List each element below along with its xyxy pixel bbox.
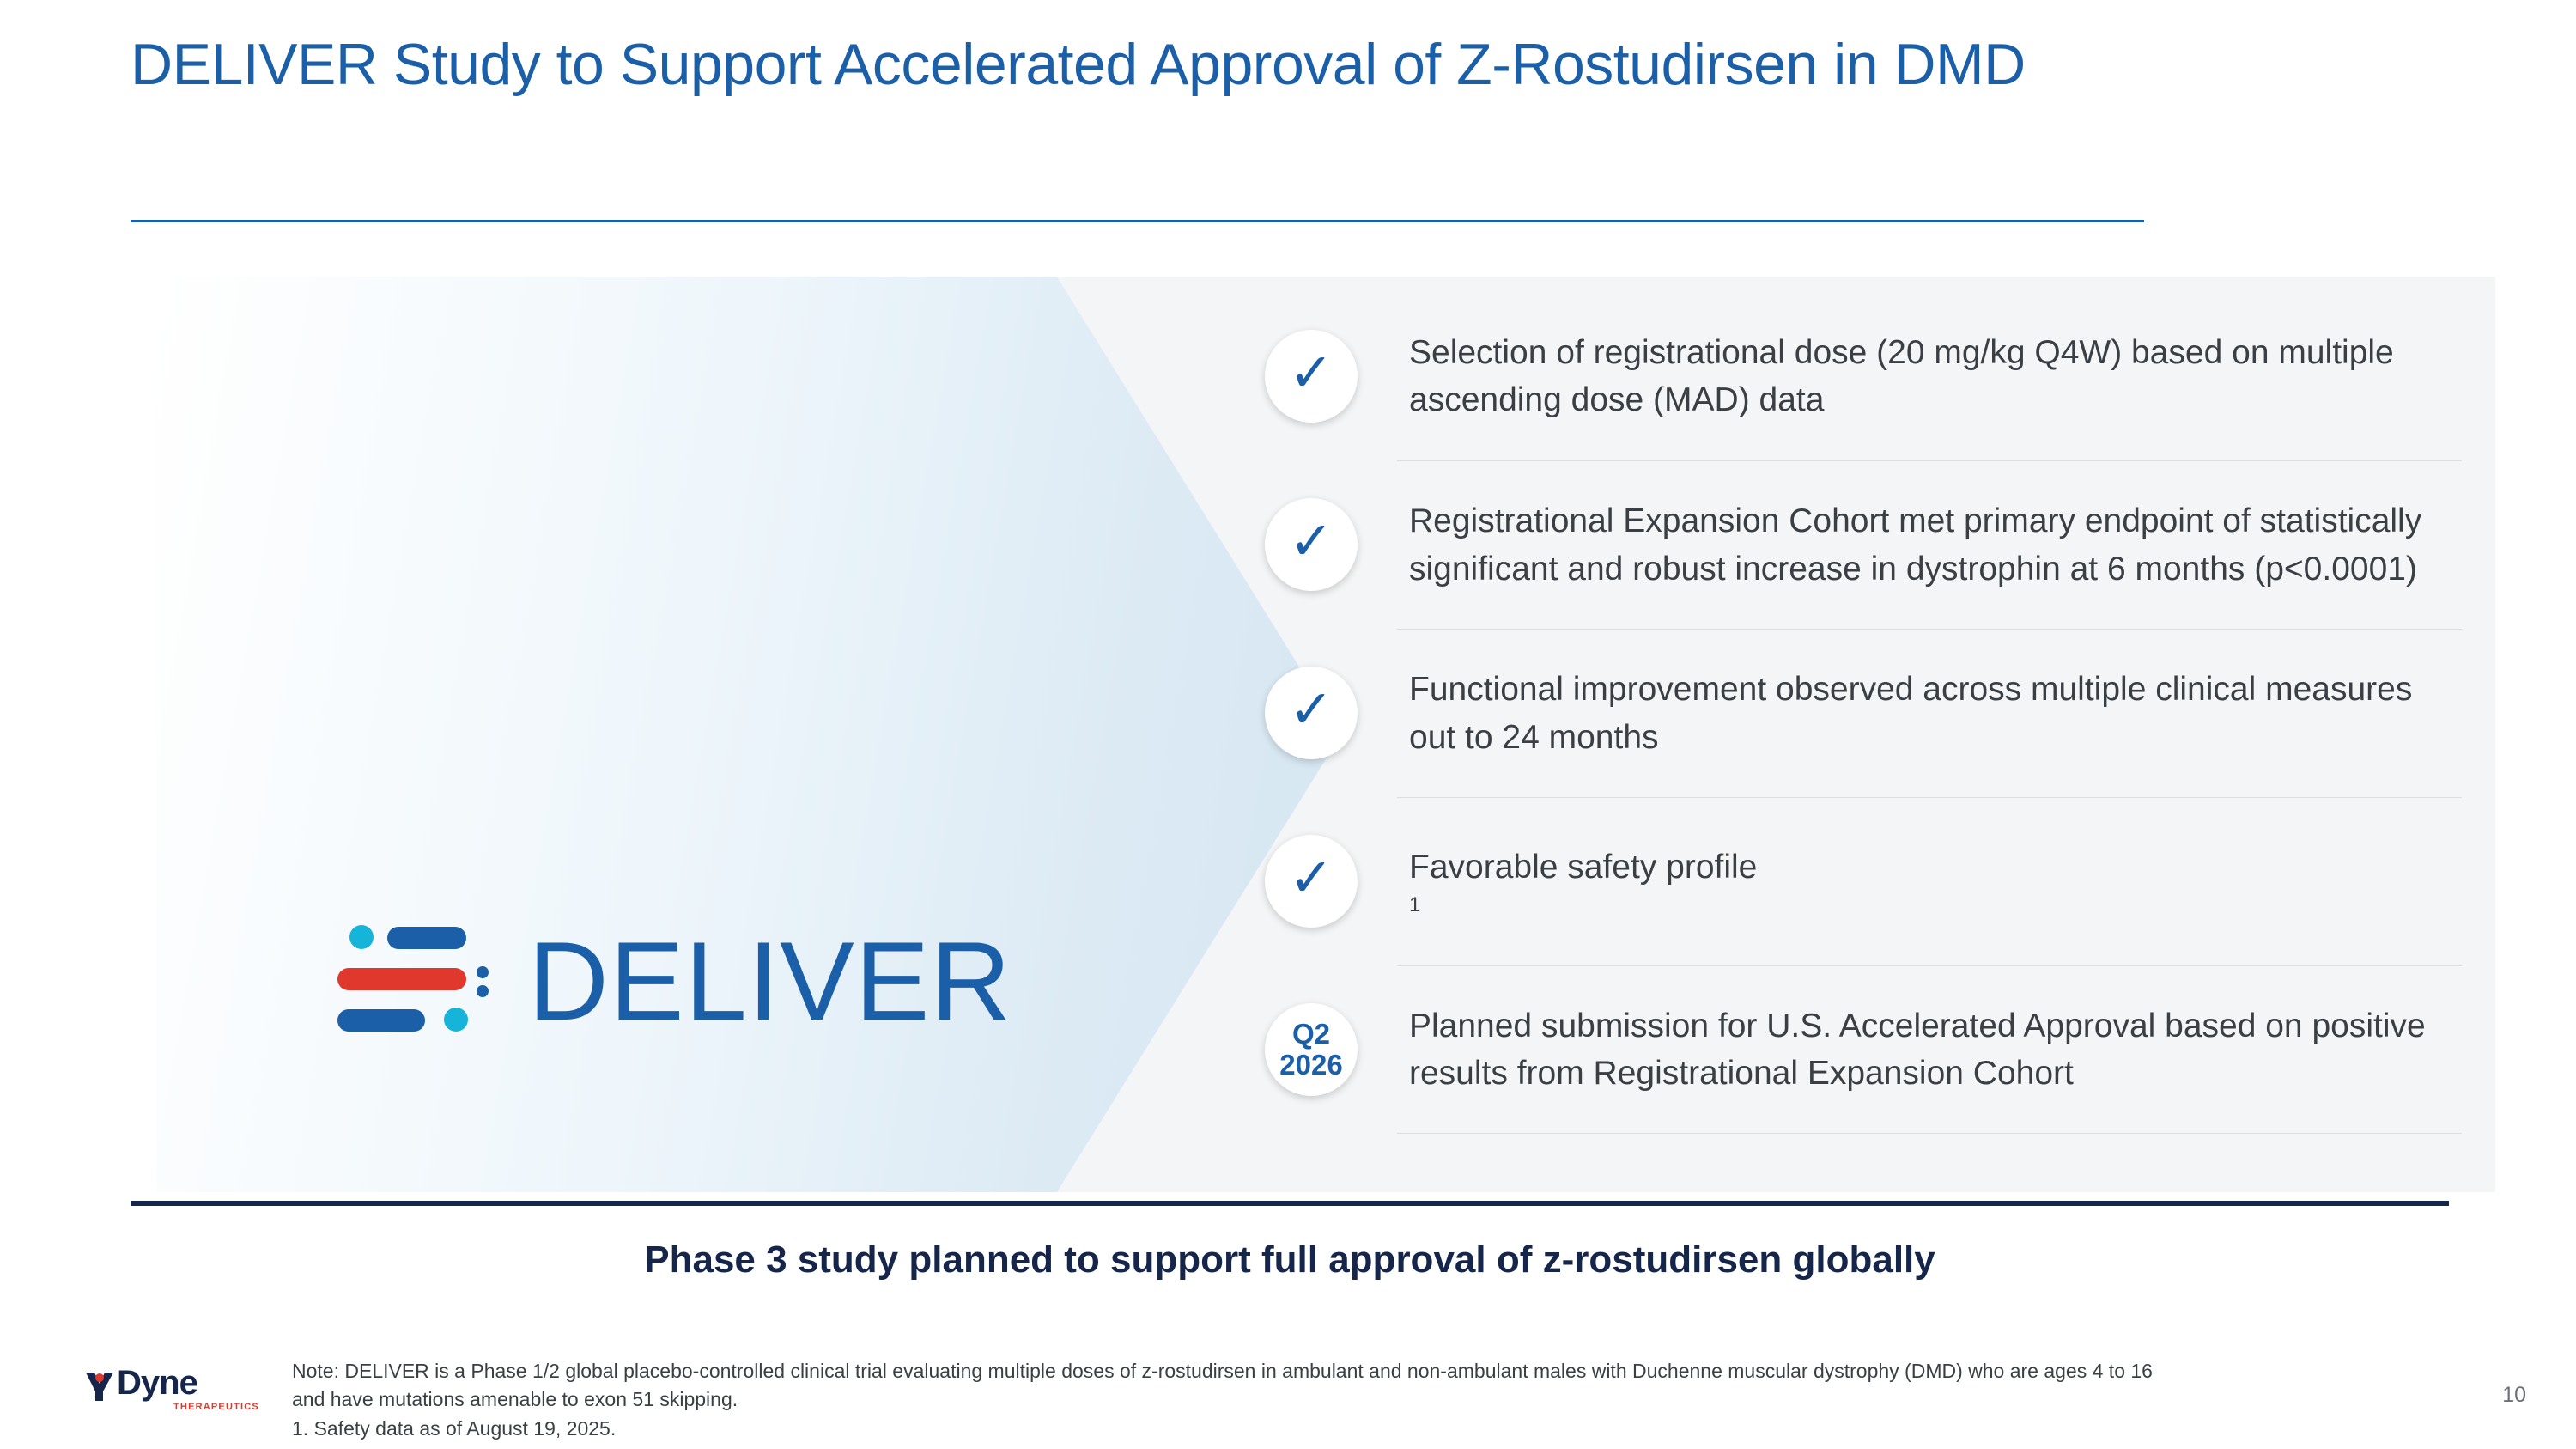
company-logo: Dyne THERAPEUTICS [82, 1364, 271, 1417]
footnote-marker: 1 [1409, 891, 2445, 920]
list-item-text: Favorable safety profile1 [1397, 797, 2462, 965]
list-item-text: Selection of registrational dose (20 mg/… [1397, 292, 2462, 460]
quarter-badge-quarter: Q2 [1292, 1018, 1330, 1050]
deliver-bars-icon-dot-bottom [444, 1008, 468, 1032]
deliver-bars-icon-bar-bottom [337, 1009, 425, 1032]
marker-column: ✓ [1225, 330, 1397, 423]
check-icon: ✓ [1289, 347, 1334, 400]
list-item: ✓ Favorable safety profile1 [1225, 797, 2462, 965]
deliver-bars-icon-dot-mid-upper [477, 966, 489, 978]
list-item: Q22026 Planned submission for U.S. Accel… [1225, 965, 2462, 1134]
quarter-badge: Q22026 [1265, 1003, 1358, 1096]
list-item: ✓ Functional improvement observed across… [1225, 629, 2462, 797]
check-badge: ✓ [1265, 835, 1358, 928]
quarter-badge-year: 2026 [1279, 1049, 1342, 1081]
check-icon: ✓ [1289, 515, 1334, 569]
page-number: 10 [2502, 1383, 2526, 1408]
title-divider [131, 220, 2144, 222]
check-badge: ✓ [1265, 330, 1358, 423]
list-item-text: Functional improvement observed across m… [1397, 629, 2462, 797]
deliver-bars-icon-dot-mid-lower [477, 985, 489, 997]
dyne-y-icon [82, 1369, 117, 1403]
list-item-text-main: Favorable safety profile [1409, 843, 2445, 891]
marker-column: ✓ [1225, 667, 1397, 759]
list-item-text: Registrational Expansion Cohort met prim… [1397, 460, 2462, 629]
check-badge: ✓ [1265, 667, 1358, 759]
deliver-bars-icon-bar-top [387, 927, 466, 949]
check-icon: ✓ [1289, 684, 1334, 737]
deliver-bars-icon [332, 925, 495, 1037]
milestone-list: ✓ Selection of registrational dose (20 m… [1225, 292, 2462, 1134]
list-item: ✓ Selection of registrational dose (20 m… [1225, 292, 2462, 460]
list-item-text: Planned submission for U.S. Accelerated … [1397, 965, 2462, 1134]
chevron-shape [156, 277, 1341, 1192]
deliver-logo-lockup: DELIVER [332, 912, 1191, 1050]
marker-column: Q22026 [1225, 1003, 1397, 1096]
key-takeaway: Phase 3 study planned to support full ap… [131, 1239, 2449, 1282]
quarter-badge-label: Q22026 [1279, 1019, 1342, 1081]
company-logo-name: Dyne [117, 1364, 197, 1403]
deliver-bars-icon-bar-red [337, 968, 466, 990]
content-panel: DELIVER ✓ Selection of registrational do… [156, 277, 2495, 1192]
check-badge: ✓ [1265, 498, 1358, 591]
marker-column: ✓ [1225, 498, 1397, 591]
company-logo-tagline: THERAPEUTICS [173, 1402, 259, 1412]
list-item: ✓ Registrational Expansion Cohort met pr… [1225, 460, 2462, 629]
page-title: DELIVER Study to Support Accelerated App… [131, 31, 2260, 99]
section-divider [131, 1201, 2449, 1206]
footnote-text: Note: DELIVER is a Phase 1/2 global plac… [292, 1357, 2181, 1443]
deliver-wordmark: DELIVER [528, 925, 1012, 1037]
marker-column: ✓ [1225, 835, 1397, 928]
deliver-bars-icon-dot-top [349, 925, 374, 949]
check-icon: ✓ [1289, 852, 1334, 905]
